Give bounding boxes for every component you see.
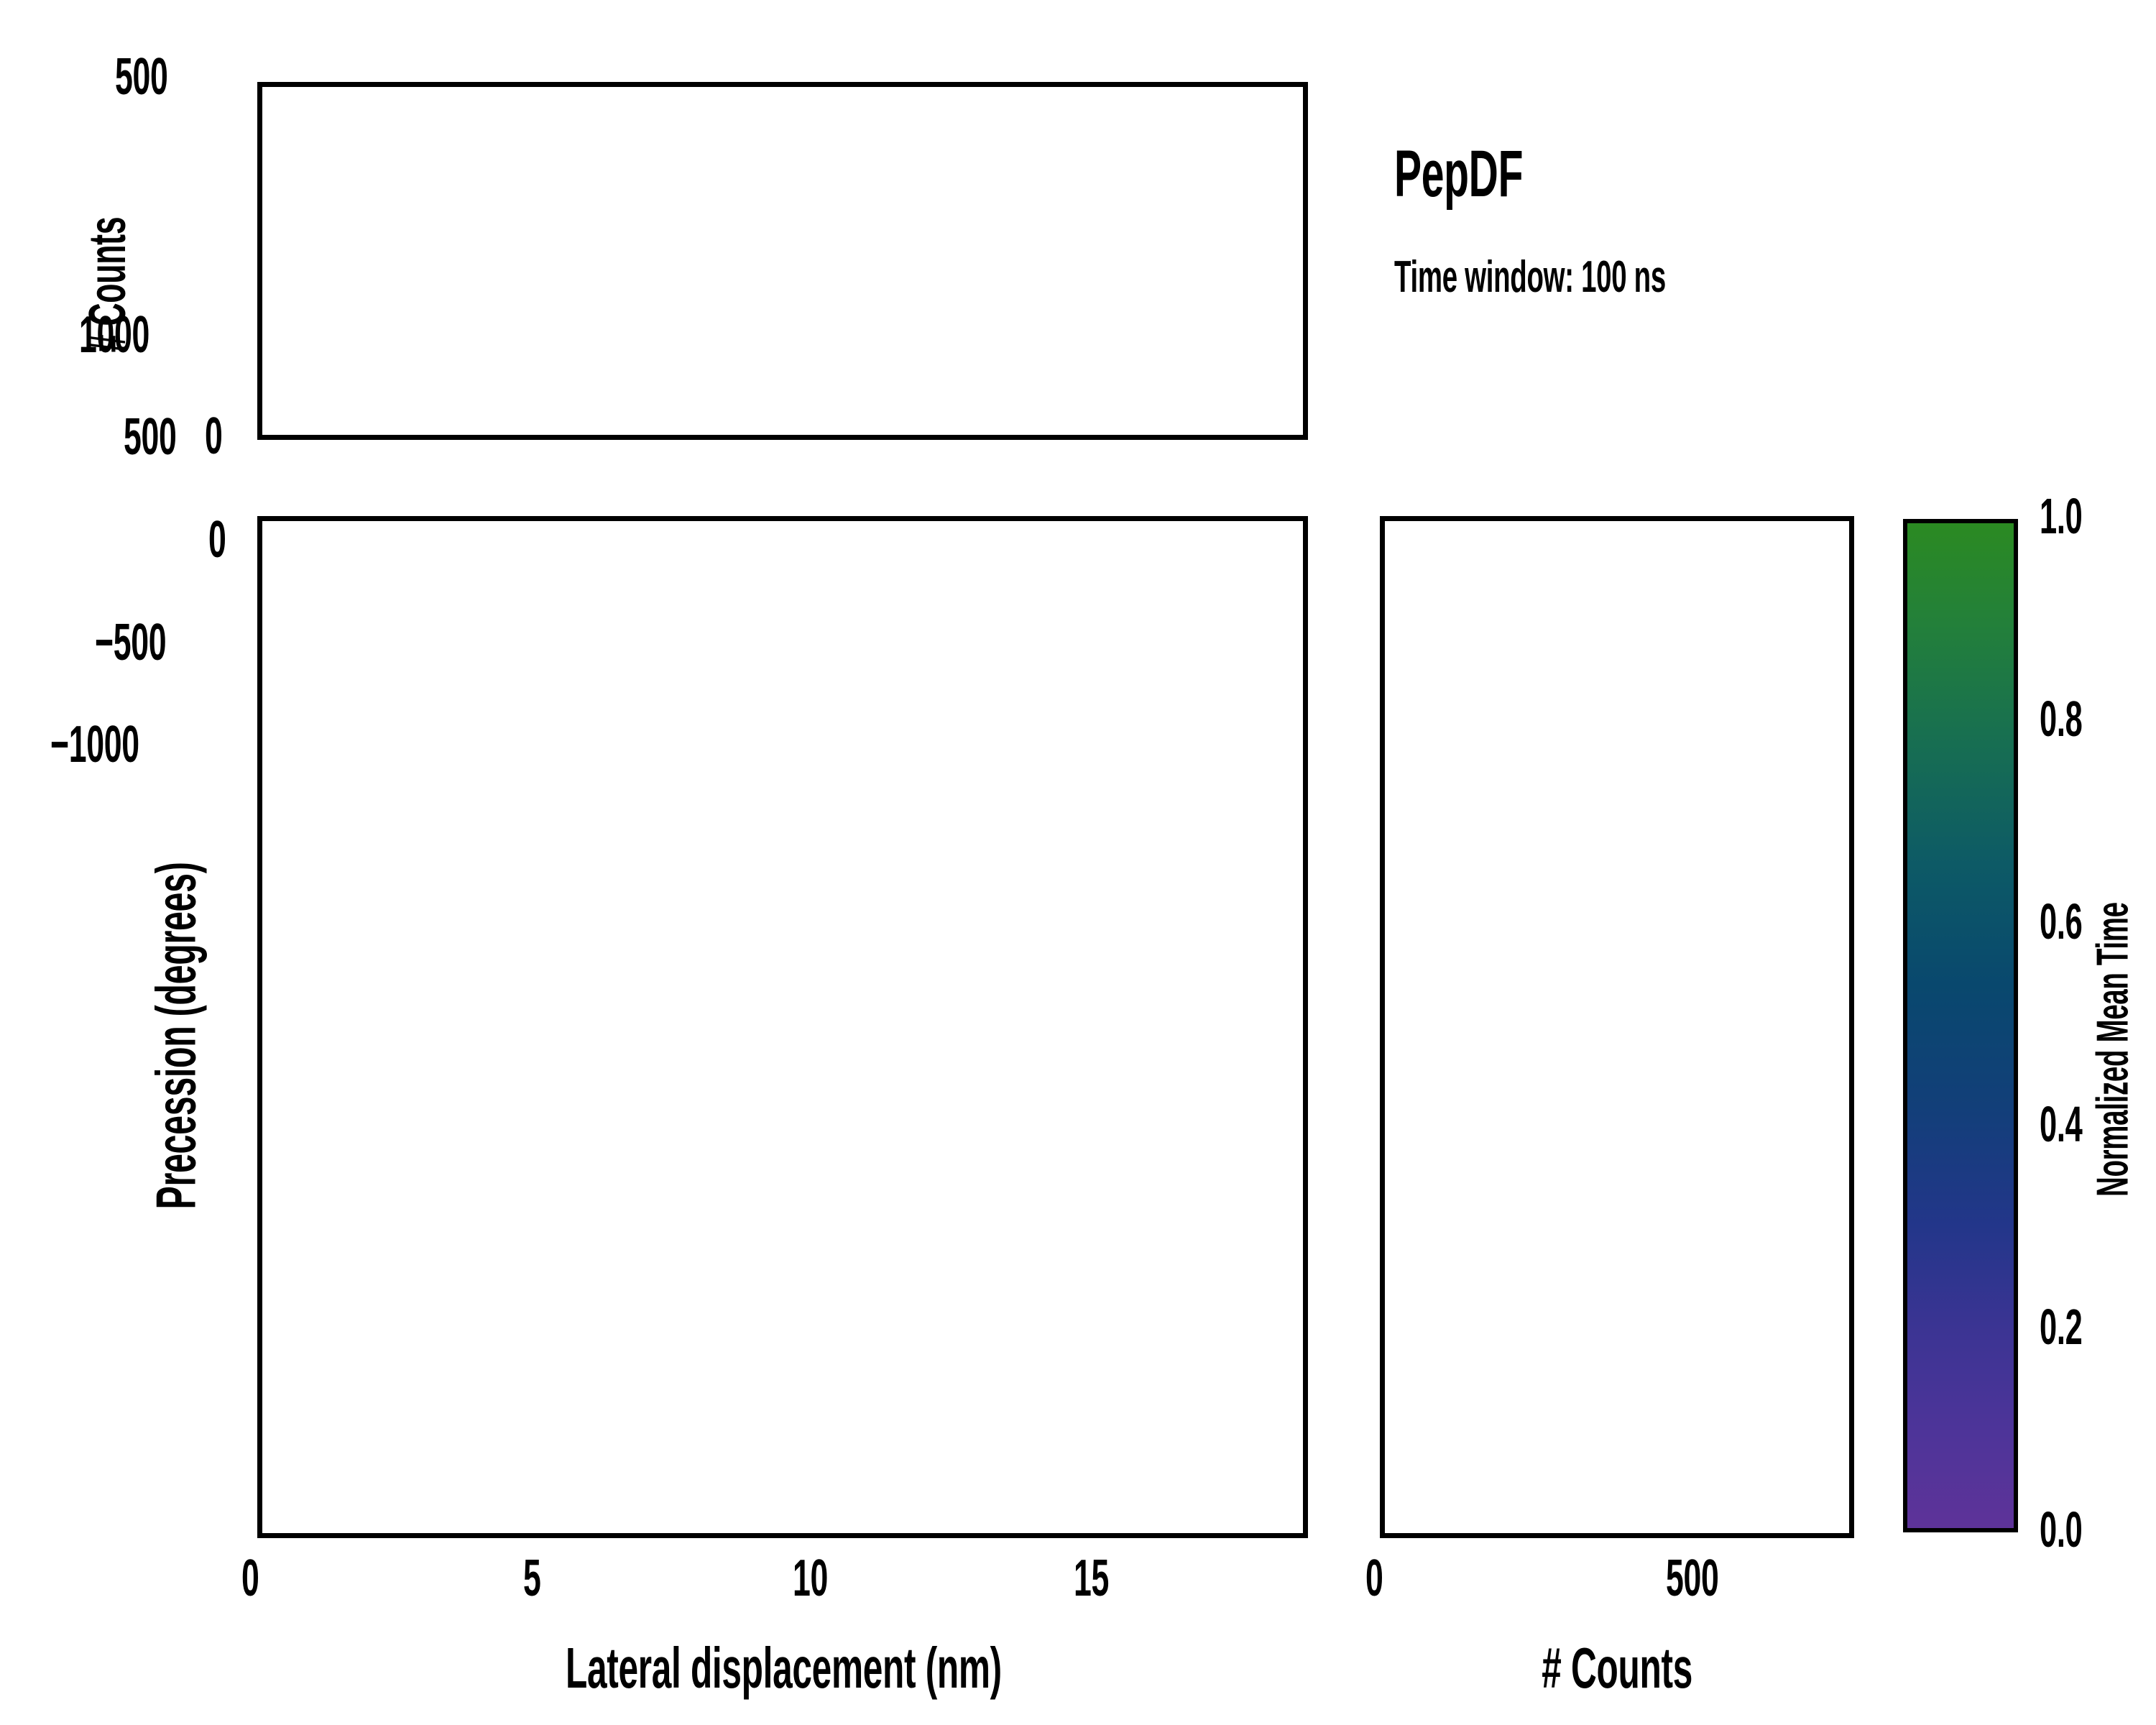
top-histogram-axes-frame bbox=[257, 82, 1308, 440]
colorbar-gradient bbox=[1907, 523, 2014, 1528]
figure-canvas: 500 0 # Counts 1000 500 0 −500 −1000 Pre… bbox=[0, 0, 2156, 1725]
main-xtick-15: 15 bbox=[1074, 1549, 1130, 1608]
colorbar-tick-0-0: 0.0 bbox=[2040, 1501, 2109, 1558]
top-hist-ytick-0: 0 bbox=[205, 407, 234, 466]
main-ytick-500: 500 bbox=[124, 408, 209, 466]
main-ytick-1000: 1000 bbox=[79, 305, 193, 364]
main-xtick-0: 0 bbox=[241, 1549, 270, 1608]
main-xtick-10: 10 bbox=[793, 1549, 849, 1608]
colorbar-label: Normalized Mean Time bbox=[2088, 691, 2139, 1409]
colorbar[interactable] bbox=[1903, 519, 2018, 1532]
main-ytick-neg500: −500 bbox=[95, 613, 210, 672]
main-ylabel: Precession (degrees) bbox=[144, 676, 209, 1395]
figure-title: PepDF bbox=[1394, 137, 1602, 212]
right-hist-xlabel: # Counts bbox=[1380, 1635, 1854, 1701]
top-hist-ylabel: # Counts bbox=[78, 134, 137, 436]
main-ytick-0: 0 bbox=[208, 510, 237, 569]
right-hist-xtick-500: 500 bbox=[1666, 1549, 1751, 1608]
colorbar-tick-1-0: 1.0 bbox=[2040, 487, 2109, 545]
top-hist-ytick-500: 500 bbox=[115, 47, 201, 106]
main-axes-frame bbox=[257, 516, 1308, 1538]
main-xlabel: Lateral displacement (nm) bbox=[259, 1635, 1308, 1701]
right-histogram-axes-frame bbox=[1380, 516, 1854, 1538]
figure-subtitle: Time window: 100 ns bbox=[1394, 252, 1833, 303]
right-hist-xtick-0: 0 bbox=[1365, 1549, 1394, 1608]
main-xtick-5: 5 bbox=[523, 1549, 552, 1608]
